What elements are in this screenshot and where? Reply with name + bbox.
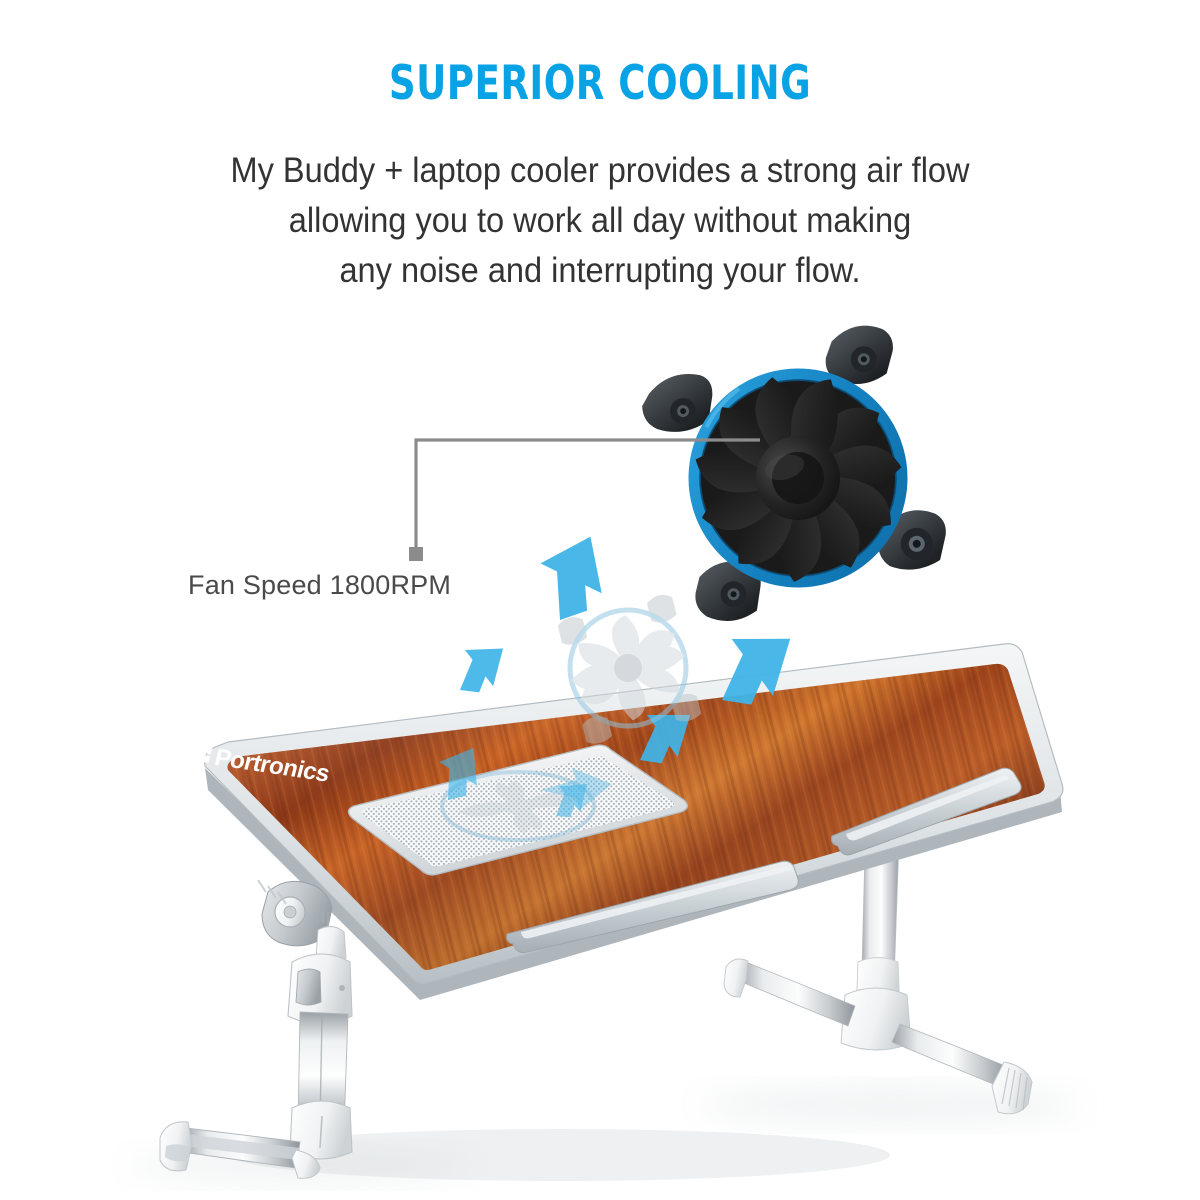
fan-speed-callout-label: Fan Speed 1800RPM [188,570,451,601]
left-foot-end-cap [160,1122,192,1171]
subtitle-line-3: any noise and interrupting your flow. [135,246,1065,296]
leg-assembly-left [160,880,352,1178]
right-foot-bar-front [892,1024,1008,1086]
page-subtitle: My Buddy + laptop cooler provides a stro… [135,146,1065,296]
left-leg-release-button [296,969,321,1005]
page-title: SUPERIOR COOLING [72,56,1128,111]
product-feature-image: Portronics [0,0,1200,1200]
right-foot-bar-back [737,963,855,1026]
cooling-fan [634,316,954,631]
subtitle-line-1: My Buddy + laptop cooler provides a stro… [135,146,1065,196]
right-foot-cap-back [724,959,748,997]
airflow-arrow-1 [442,631,517,704]
subtitle-line-2: allowing you to work all day without mak… [135,196,1065,246]
